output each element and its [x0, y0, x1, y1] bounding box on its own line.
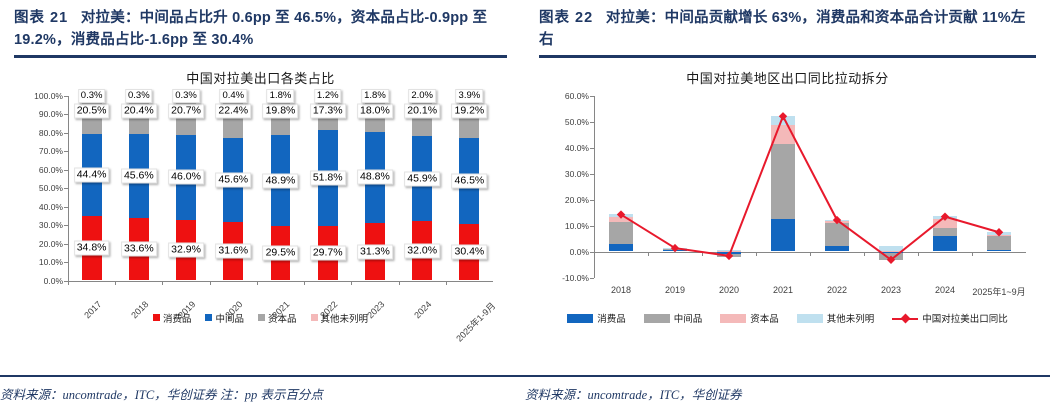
legend-item-中间品: 中间品 — [644, 311, 703, 325]
line-series-overlay — [594, 96, 1026, 278]
legend-swatch — [258, 314, 265, 321]
data-label-other: 1.8% — [361, 89, 389, 103]
figure-panel-right: 图表 22 对拉美：中间品贡献增长 63%，消费品和资本品合计贡献 11%左右 … — [525, 0, 1050, 419]
x-axis-tick-mark — [115, 281, 116, 285]
figure-22-label: 图表 22 — [539, 10, 593, 26]
data-label-capital: 20.4% — [121, 104, 157, 119]
data-label-consumer: 31.6% — [215, 244, 251, 259]
bar-column: 32.0%45.9%20.1%2.0%2024 — [399, 96, 446, 281]
line-data-marker — [995, 228, 1003, 236]
legend-item-资本品: 资本品 — [720, 311, 779, 325]
legend-swatch-line — [892, 314, 918, 323]
legend-label: 资本品 — [750, 314, 779, 325]
data-label-intermediate: 45.6% — [121, 169, 157, 184]
data-label-intermediate: 48.9% — [263, 173, 299, 188]
x-axis-label: 2021 — [773, 285, 793, 295]
line-data-marker — [779, 112, 787, 120]
bar-column: 34.8%44.4%20.5%0.3%2017 — [68, 96, 115, 281]
x-axis-label: 2024 — [418, 285, 439, 306]
data-label-other: 1.2% — [314, 89, 342, 103]
legend-label: 消费品 — [597, 314, 626, 325]
legend-swatch — [311, 314, 318, 321]
x-axis-label: 2019 — [182, 285, 203, 306]
legend-label: 中间品 — [215, 314, 244, 325]
legend-swatch — [567, 314, 593, 323]
line-data-marker — [725, 251, 733, 259]
legend-swatch — [797, 314, 823, 323]
data-label-capital: 19.2% — [451, 104, 487, 119]
data-label-other: 2.0% — [408, 89, 436, 103]
data-label-consumer: 32.9% — [168, 243, 204, 258]
data-label-capital: 20.5% — [74, 104, 110, 119]
legend-label: 资本品 — [268, 314, 297, 325]
chart-left-legend: 消费品中间品资本品其他未列明 — [14, 311, 507, 325]
x-axis-label: 2024 — [935, 285, 955, 295]
figure-21-label: 图表 21 — [14, 10, 68, 26]
source-note-left: 资料来源：uncomtrade，ITC，华创证券 注：pp 表示百分点 — [0, 384, 525, 403]
x-axis-label: 2023 — [371, 285, 392, 306]
x-axis-tick-mark — [68, 281, 69, 285]
legend-label: 中间品 — [674, 314, 703, 325]
legend-label: 消费品 — [163, 314, 192, 325]
chart-left: 中国对拉美出口各类占比 0.0%10.0%20.0%30.0%40.0%50.0… — [14, 58, 507, 358]
legend-swatch — [205, 314, 212, 321]
legend-item-资本品: 资本品 — [258, 311, 297, 325]
x-axis-line — [68, 281, 493, 282]
data-label-consumer: 32.0% — [404, 243, 440, 258]
chart-right-plot: -10.0%0.0%10.0%20.0%30.0%40.0%50.0%60.0%… — [594, 96, 1026, 278]
legend-item-中间品: 中间品 — [205, 311, 244, 325]
data-label-capital: 17.3% — [310, 104, 346, 119]
x-axis-tick-mark — [210, 281, 211, 285]
x-axis-label: 2018 — [135, 285, 156, 306]
x-axis-label: 2022 — [827, 285, 847, 295]
data-label-consumer: 29.5% — [263, 246, 299, 261]
bar-column: 29.7%51.8%17.3%1.2%2022 — [304, 96, 351, 281]
bar-column: 33.6%45.6%20.4%0.3%2018 — [115, 96, 162, 281]
x-axis-label: 2019 — [665, 285, 685, 295]
chart-left-title: 中国对拉美出口各类占比 — [14, 58, 507, 87]
bar-column: 29.5%48.9%19.8%1.8%2021 — [257, 96, 304, 281]
data-label-intermediate: 46.5% — [451, 174, 487, 189]
x-axis-label: 2021 — [276, 285, 297, 306]
data-label-capital: 20.7% — [168, 104, 204, 119]
source-divider-left — [0, 375, 525, 377]
data-label-intermediate: 46.0% — [168, 170, 204, 185]
y-axis-tick-label: 100.0% — [34, 91, 68, 101]
data-label-other: 1.8% — [267, 89, 295, 103]
figure-21-title: 图表 21 对拉美：中间品占比升 0.6pp 至 46.5%，资本品占比-0.9… — [14, 0, 507, 52]
report-page: 图表 21 对拉美：中间品占比升 0.6pp 至 46.5%，资本品占比-0.9… — [0, 0, 1050, 419]
x-axis-label: 2018 — [611, 285, 631, 295]
data-label-consumer: 29.7% — [310, 246, 346, 261]
x-axis-tick-mark — [304, 281, 305, 285]
bar-column: 31.6%45.6%22.4%0.4%2020 — [210, 96, 257, 281]
x-axis-label: 2020 — [229, 285, 250, 306]
data-label-consumer: 33.6% — [121, 242, 157, 257]
legend-item-其他未列明: 其他未列明 — [797, 311, 875, 325]
source-divider-right — [525, 375, 1050, 377]
data-label-intermediate: 44.4% — [74, 168, 110, 183]
x-axis-tick-mark — [162, 281, 163, 285]
data-label-intermediate: 45.9% — [404, 171, 440, 186]
data-label-consumer: 31.3% — [357, 244, 393, 259]
x-axis-label: 2025年1~9月 — [972, 285, 1025, 298]
legend-item-line: 中国对拉美出口同比 — [892, 311, 1008, 325]
legend-swatch — [720, 314, 746, 323]
chart-left-plot: 0.0%10.0%20.0%30.0%40.0%50.0%60.0%70.0%8… — [68, 96, 493, 281]
chart-right: 中国对拉美地区出口同比拉动拆分 -10.0%0.0%10.0%20.0%30.0… — [539, 58, 1036, 358]
data-label-other: 3.9% — [456, 89, 484, 103]
legend-item-消费品: 消费品 — [567, 311, 626, 325]
figure-22-caption: 对拉美：中间品贡献增长 63%，消费品和资本品合计贡献 11%左右 — [539, 10, 1026, 48]
data-label-intermediate: 45.6% — [215, 172, 251, 187]
legend-item-消费品: 消费品 — [153, 311, 192, 325]
x-axis-label: 2023 — [881, 285, 901, 295]
y-axis-tick-mark — [590, 278, 594, 279]
bar-column: 32.9%46.0%20.7%0.3%2019 — [162, 96, 209, 281]
data-label-intermediate: 48.8% — [357, 170, 393, 185]
data-label-capital: 19.8% — [263, 104, 299, 119]
legend-item-其他未列明: 其他未列明 — [311, 311, 369, 325]
x-axis-label: 2020 — [719, 285, 739, 295]
bar-column: 31.3%48.8%18.0%1.8%2023 — [351, 96, 398, 281]
data-label-consumer: 34.8% — [74, 241, 110, 256]
figure-21-caption: 对拉美：中间品占比升 0.6pp 至 46.5%，资本品占比-0.9pp 至 1… — [14, 10, 487, 48]
x-axis-tick-mark — [351, 281, 352, 285]
data-label-capital: 20.1% — [404, 104, 440, 119]
chart-right-legend: 消费品中间品资本品其他未列明中国对拉美出口同比 — [539, 311, 1036, 325]
data-label-other: 0.3% — [125, 89, 153, 103]
x-axis-tick-mark — [399, 281, 400, 285]
x-axis-label: 2022 — [324, 285, 345, 306]
figure-22-title: 图表 22 对拉美：中间品贡献增长 63%，消费品和资本品合计贡献 11%左右 — [539, 0, 1036, 52]
legend-swatch — [644, 314, 670, 323]
bar-column: 30.4%46.5%19.2%3.9%2025年1-9月 — [446, 96, 493, 281]
data-label-intermediate: 51.8% — [310, 170, 346, 185]
data-label-other: 0.4% — [219, 89, 247, 103]
data-label-capital: 22.4% — [215, 104, 251, 119]
x-axis-label: 2017 — [87, 285, 108, 306]
figure-panel-left: 图表 21 对拉美：中间品占比升 0.6pp 至 46.5%，资本品占比-0.9… — [0, 0, 525, 419]
legend-label: 其他未列明 — [321, 314, 369, 325]
x-axis-tick-mark — [257, 281, 258, 285]
x-axis-tick-mark — [446, 281, 447, 285]
legend-label: 其他未列明 — [827, 314, 875, 325]
data-label-capital: 18.0% — [357, 104, 393, 119]
source-note-right: 资料来源：uncomtrade，ITC，华创证券 — [525, 384, 1050, 403]
legend-swatch — [153, 314, 160, 321]
chart-right-title: 中国对拉美地区出口同比拉动拆分 — [539, 58, 1036, 87]
data-label-consumer: 30.4% — [451, 245, 487, 260]
data-label-other: 0.3% — [78, 89, 106, 103]
data-label-other: 0.3% — [172, 89, 200, 103]
legend-label: 中国对拉美出口同比 — [922, 314, 1008, 325]
